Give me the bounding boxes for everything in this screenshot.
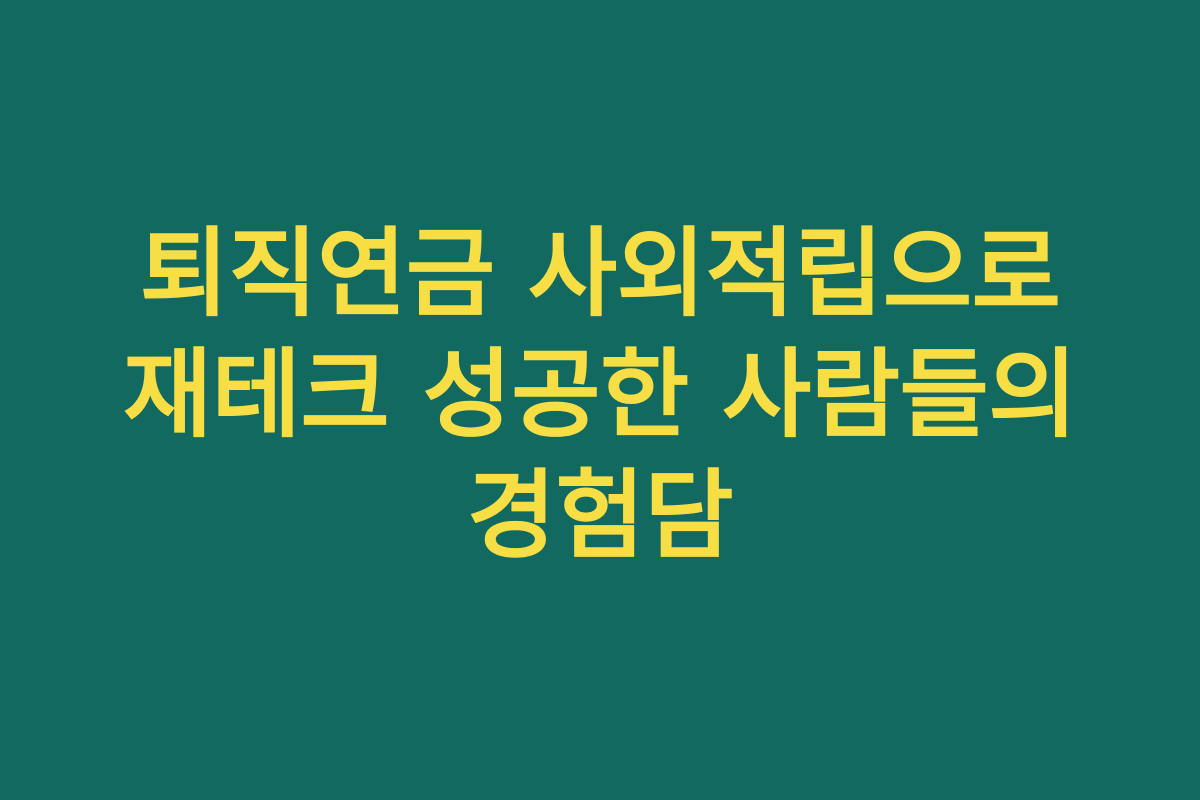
title-line-2: 재테크 성공한 사람들의 (123, 334, 1077, 455)
title-card: 퇴직연금 사외적립으로 재테크 성공한 사람들의 경험담 (0, 0, 1200, 800)
page-title: 퇴직연금 사외적립으로 재테크 성공한 사람들의 경험담 (85, 213, 1115, 576)
title-line-1: 퇴직연금 사외적립으로 (140, 213, 1061, 334)
title-line-3: 경험담 (467, 455, 733, 576)
